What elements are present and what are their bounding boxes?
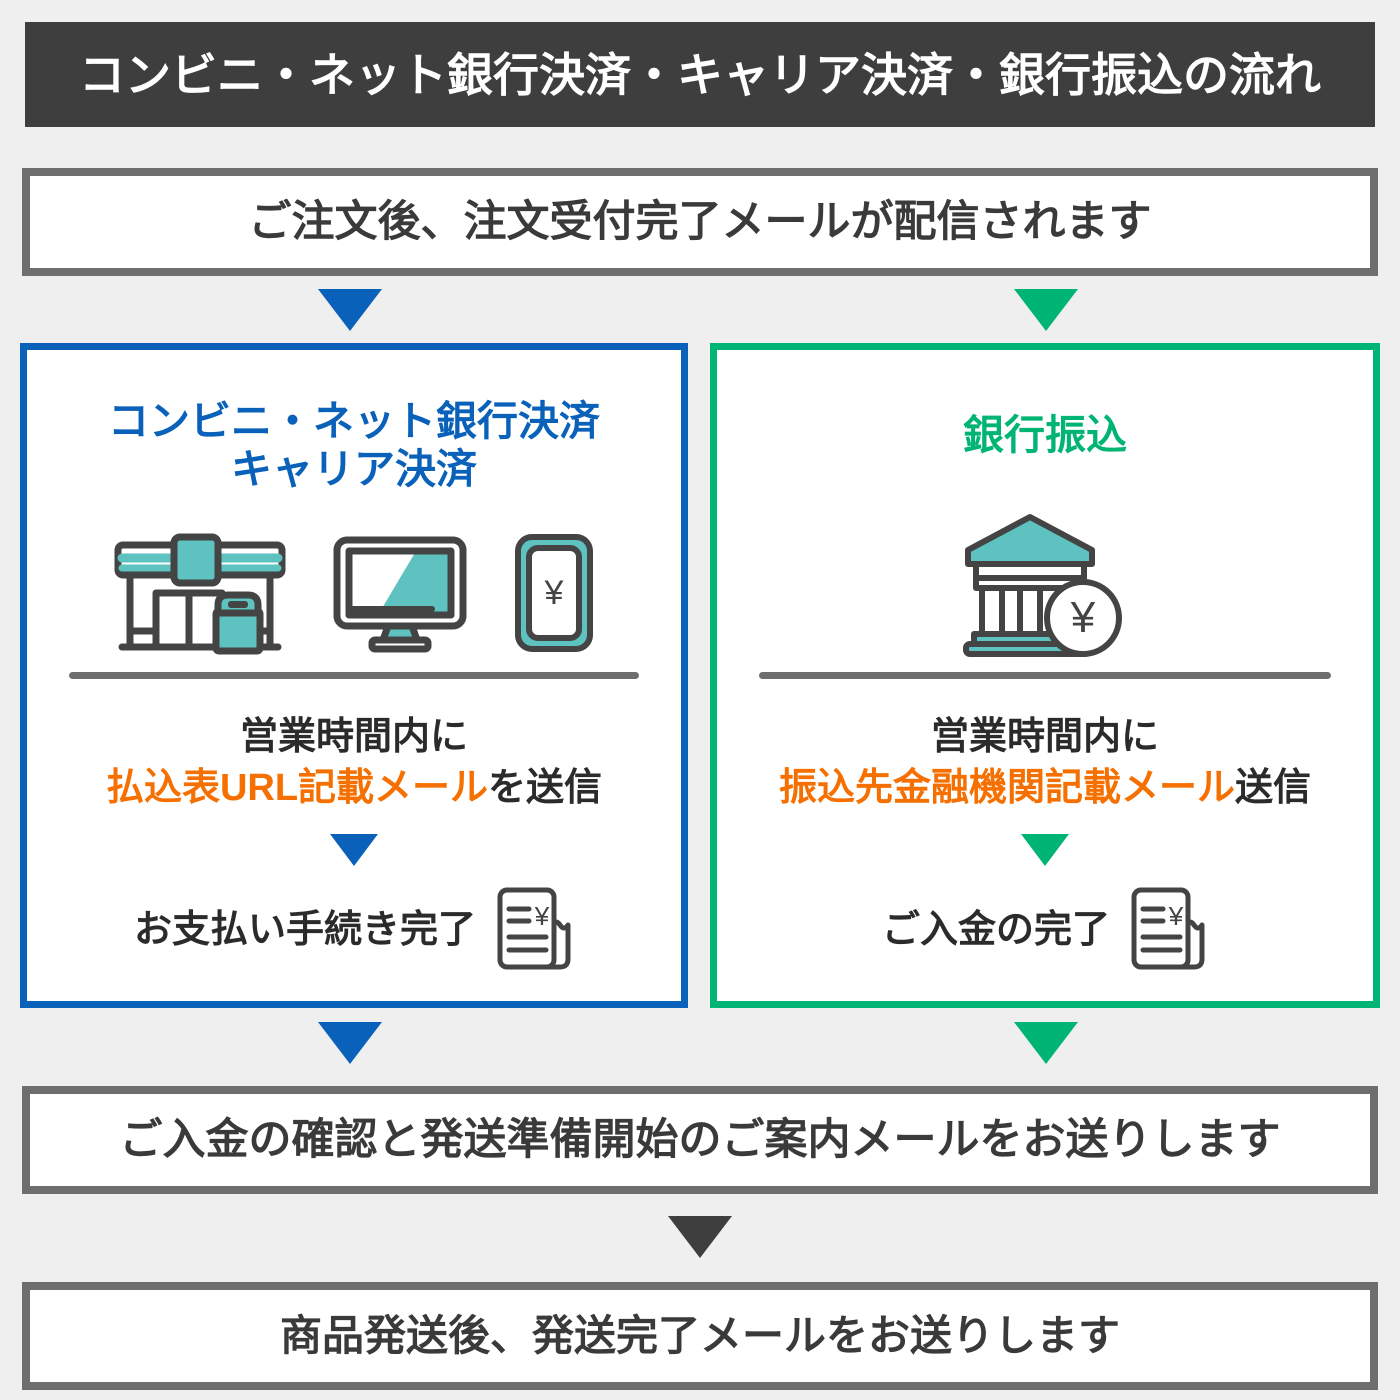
- down-arrow-icon-final: [668, 1216, 732, 1258]
- panel-bank-send-line1: 営業時間内に: [717, 712, 1373, 763]
- down-arrow-icon-to-cvs: [318, 289, 382, 331]
- svg-text:¥: ¥: [1168, 901, 1184, 931]
- panel-bank-send-line2: 振込先金融機関記載メール送信: [717, 763, 1373, 814]
- down-arrow-icon-bank-mid: [1021, 834, 1069, 866]
- receipt-yen-icon: ¥: [490, 885, 574, 975]
- panel-cvs-done-label: お支払い手続き完了: [134, 911, 476, 949]
- step-order-label: ご注文後、注文受付完了メールが配信されます: [249, 201, 1152, 244]
- diagram-title: コンビニ・ネット銀行決済・キャリア決済・銀行振込の流れ: [79, 52, 1321, 98]
- panel-bank-title: 銀行振込: [717, 412, 1373, 460]
- panel-cvs-send-text: 営業時間内に 払込表URL記載メールを送信: [27, 712, 681, 814]
- panel-cvs-title: コンビニ・ネット銀行決済 キャリア決済: [27, 398, 681, 493]
- down-arrow-icon-cvs-mid: [330, 834, 378, 866]
- step-box-payment-confirmed: ご入金の確認と発送準備開始のご案内メールをお送りします: [22, 1086, 1378, 1194]
- convenience-store-icon: [112, 531, 288, 655]
- panel-bank-send-text: 営業時間内に 振込先金融機関記載メール送信: [717, 712, 1373, 814]
- panel-bank-divider: [759, 672, 1331, 679]
- panel-cvs-send-highlight: 払込表URL記載メール: [106, 767, 488, 809]
- panel-cvs-icon-row: ¥: [27, 528, 681, 658]
- down-arrow-icon-from-cvs: [318, 1022, 382, 1064]
- panel-bank-send-suffix: 送信: [1235, 767, 1311, 809]
- panel-bank-send-highlight: 振込先金融機関記載メール: [779, 767, 1235, 809]
- panel-cvs-done-row: お支払い手続き完了 ¥: [27, 880, 681, 980]
- panel-cvs-send-suffix: を送信: [488, 767, 602, 809]
- panel-cvs-divider: [69, 672, 639, 679]
- receipt-yen-icon: ¥: [1124, 885, 1208, 975]
- smartphone-yen-icon: ¥: [512, 532, 596, 654]
- step-box-shipped: 商品発送後、発送完了メールをお送りします: [22, 1282, 1378, 1390]
- step-shipped-label: 商品発送後、発送完了メールをお送りします: [280, 1315, 1120, 1357]
- panel-convenience-payment: コンビニ・ネット銀行決済 キャリア決済: [20, 343, 688, 1008]
- monitor-icon: [332, 532, 468, 654]
- panel-cvs-send-line2: 払込表URL記載メールを送信: [27, 763, 681, 814]
- panel-bank-transfer: 銀行振込 ¥ 営業時間内に 振込先金融: [710, 343, 1380, 1008]
- panel-bank-done-label: ご入金の完了: [882, 911, 1110, 949]
- svg-text:¥: ¥: [1070, 593, 1096, 642]
- bank-building-yen-icon: ¥: [956, 510, 1134, 660]
- step-box-order: ご注文後、注文受付完了メールが配信されます: [22, 168, 1378, 276]
- panel-cvs-send-line1: 営業時間内に: [27, 712, 681, 763]
- diagram-title-bar: コンビニ・ネット銀行決済・キャリア決済・銀行振込の流れ: [25, 22, 1375, 127]
- step-confirm-label: ご入金の確認と発送準備開始のご案内メールをお送りします: [120, 1119, 1281, 1162]
- down-arrow-icon-to-bank: [1014, 289, 1078, 331]
- svg-text:¥: ¥: [544, 574, 564, 612]
- panel-bank-done-row: ご入金の完了 ¥: [717, 880, 1373, 980]
- panel-bank-icon-row: ¥: [717, 510, 1373, 660]
- down-arrow-icon-from-bank: [1014, 1022, 1078, 1064]
- flow-diagram: コンビニ・ネット銀行決済・キャリア決済・銀行振込の流れ ご注文後、注文受付完了メ…: [0, 0, 1400, 1400]
- svg-text:¥: ¥: [534, 901, 550, 931]
